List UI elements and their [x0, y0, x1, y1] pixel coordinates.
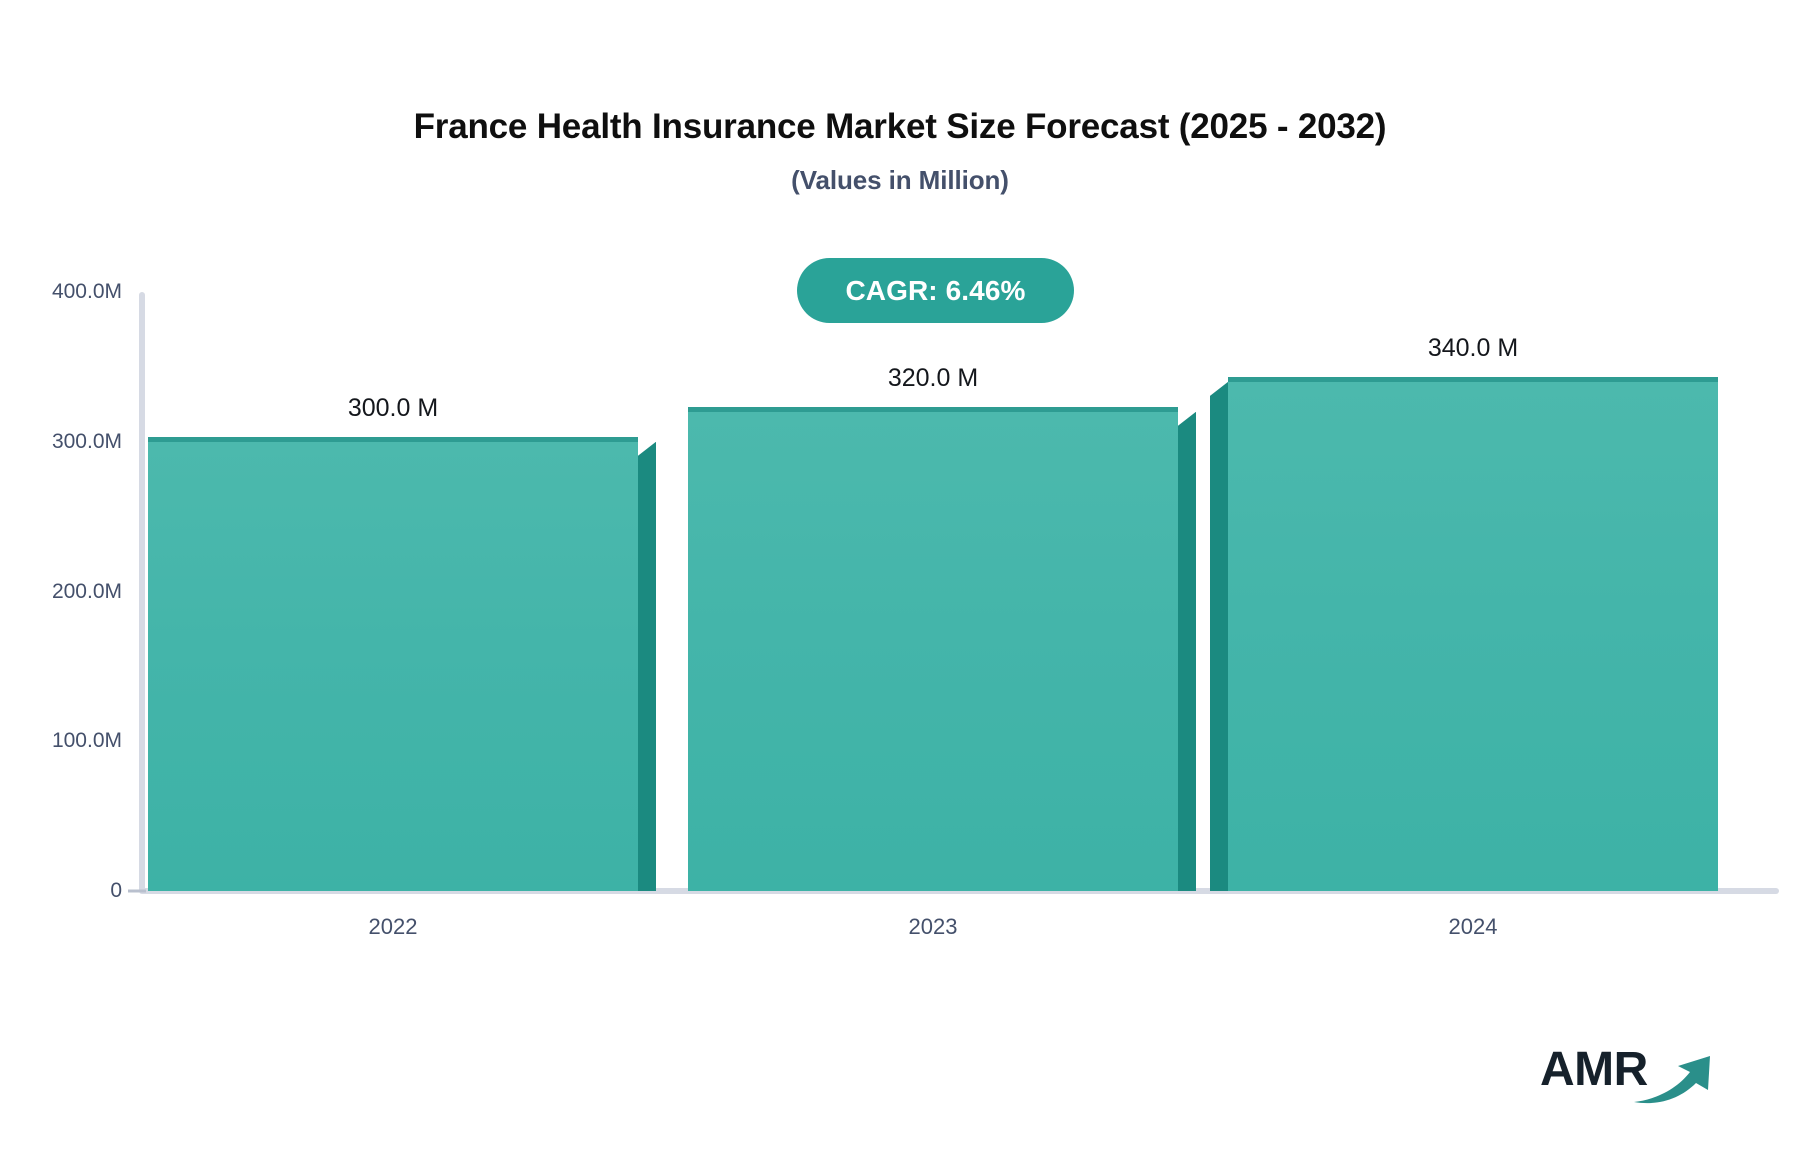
- bar-face: [688, 407, 1178, 891]
- bar-2024: [1228, 382, 1718, 891]
- bar-value-label: 320.0 M: [888, 364, 978, 393]
- bar-side-right: [1178, 412, 1196, 891]
- bar-side-left: [1210, 382, 1228, 891]
- bar-2023: [688, 412, 1178, 891]
- x-axis-category-label: 2022: [369, 914, 418, 940]
- bar-face: [148, 437, 638, 891]
- bar-side-right: [638, 442, 656, 891]
- bar-2022: [148, 442, 638, 891]
- x-axis-category-label: 2024: [1449, 914, 1498, 940]
- bar-face: [1228, 377, 1718, 891]
- chart-container: France Health Insurance Market Size Fore…: [0, 0, 1800, 1156]
- trend-up-arrow-icon: [1632, 1052, 1716, 1108]
- amr-logo: AMR: [1540, 1046, 1716, 1110]
- x-axis-category-label: 2023: [909, 914, 958, 940]
- bar-value-label: 300.0 M: [348, 394, 438, 423]
- bar-value-label: 340.0 M: [1428, 334, 1518, 363]
- plot-area: 400.0M300.0M200.0M100.0M0 300.0 M2022320…: [0, 0, 1800, 1156]
- bars-layer: 300.0 M2022320.0 M2023340.0 M2024: [0, 0, 1800, 1156]
